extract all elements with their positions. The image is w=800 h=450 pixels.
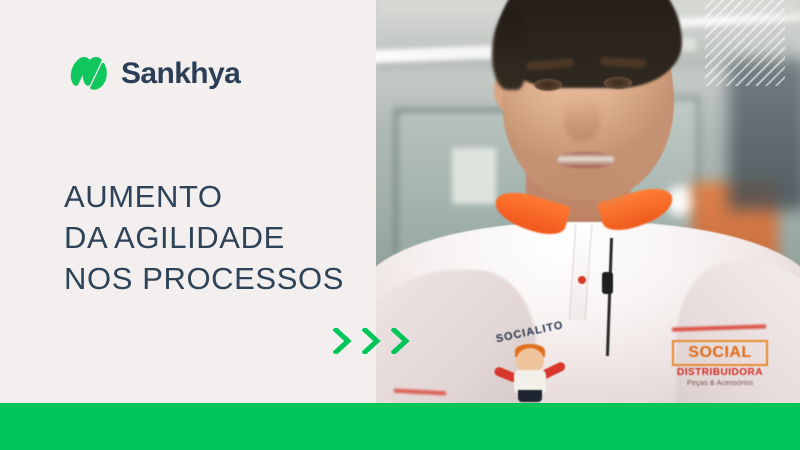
presenter-chin	[540, 168, 632, 206]
lavalier-mic-icon	[602, 272, 613, 294]
chevron-group	[333, 328, 410, 354]
bottom-green-bar	[0, 403, 800, 450]
social-badge-box: SOCIAL	[672, 340, 768, 366]
chevron-right-icon	[391, 328, 410, 354]
chevron-right-icon	[333, 328, 352, 354]
social-badge-tagline: Peças & Acessórios	[672, 379, 768, 387]
dark-background-right	[728, 60, 800, 210]
presenter-photo: SOCIALITO SOCIAL DISTRIBUIDORA Peças & A…	[376, 0, 800, 450]
wall-poster-left	[452, 148, 496, 204]
sankhya-s-mark-icon	[68, 54, 110, 94]
chevron-right-icon	[362, 328, 381, 354]
headline-line-2: DA AGILIDADE	[64, 217, 344, 258]
presenter-hair-side	[492, 12, 526, 90]
sankhya-logo[interactable]: Sankhya	[68, 54, 240, 94]
shirt-button	[578, 276, 586, 284]
headline-line-3: NOS PROCESSOS	[64, 258, 344, 299]
social-distribuidora-badge: SOCIAL DISTRIBUIDORA Peças & Acessórios	[672, 340, 768, 392]
presenter-nose	[564, 94, 600, 142]
socialito-mascot-badge: SOCIALITO	[490, 326, 574, 402]
photo-content: SOCIALITO SOCIAL DISTRIBUIDORA Peças & A…	[376, 0, 800, 450]
sankhya-wordmark: Sankhya	[121, 59, 240, 89]
presenter-mouth	[558, 152, 614, 168]
mascot-legs-icon	[518, 390, 542, 402]
presenter-eye-left	[534, 79, 562, 91]
headline: AUMENTO DA AGILIDADE NOS PROCESSOS	[64, 176, 344, 299]
video-frame: SOCIALITO SOCIAL DISTRIBUIDORA Peças & A…	[0, 0, 800, 450]
presenter-eye-right	[604, 77, 632, 89]
social-badge-subtitle: DISTRIBUIDORA	[672, 367, 768, 378]
social-badge-title: SOCIAL	[688, 345, 751, 361]
headline-line-1: AUMENTO	[64, 176, 344, 217]
